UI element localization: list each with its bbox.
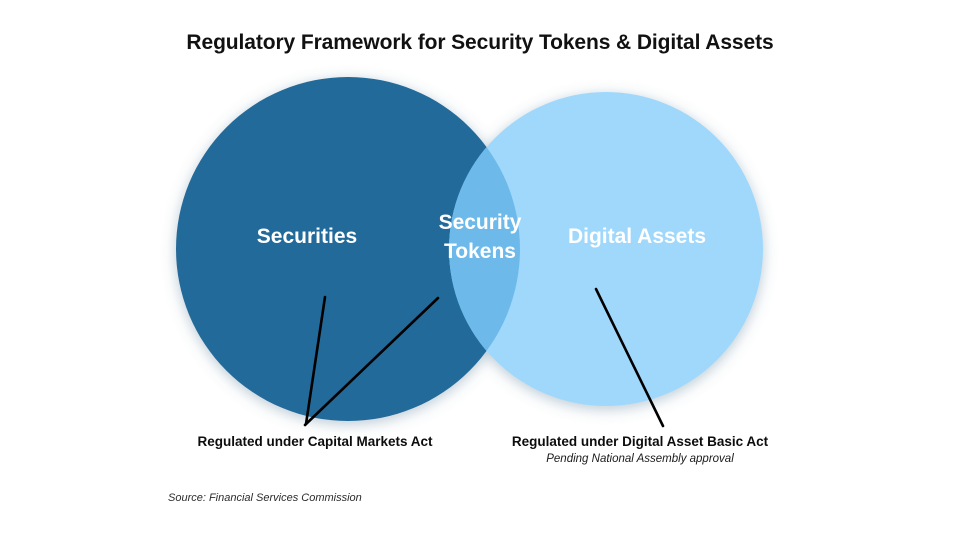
slide-canvas: Regulatory Framework for Security Tokens… (0, 0, 960, 540)
source-note: Source: Financial Services Commission (168, 492, 362, 504)
annotation-left: Regulated under Capital Markets Act (135, 434, 495, 449)
annotation-right-title: Regulated under Digital Asset Basic Act (460, 434, 820, 449)
annotation-right: Regulated under Digital Asset Basic Act … (460, 434, 820, 465)
annotation-right-subtitle: Pending National Assembly approval (460, 453, 820, 465)
annotation-left-title: Regulated under Capital Markets Act (135, 434, 495, 449)
